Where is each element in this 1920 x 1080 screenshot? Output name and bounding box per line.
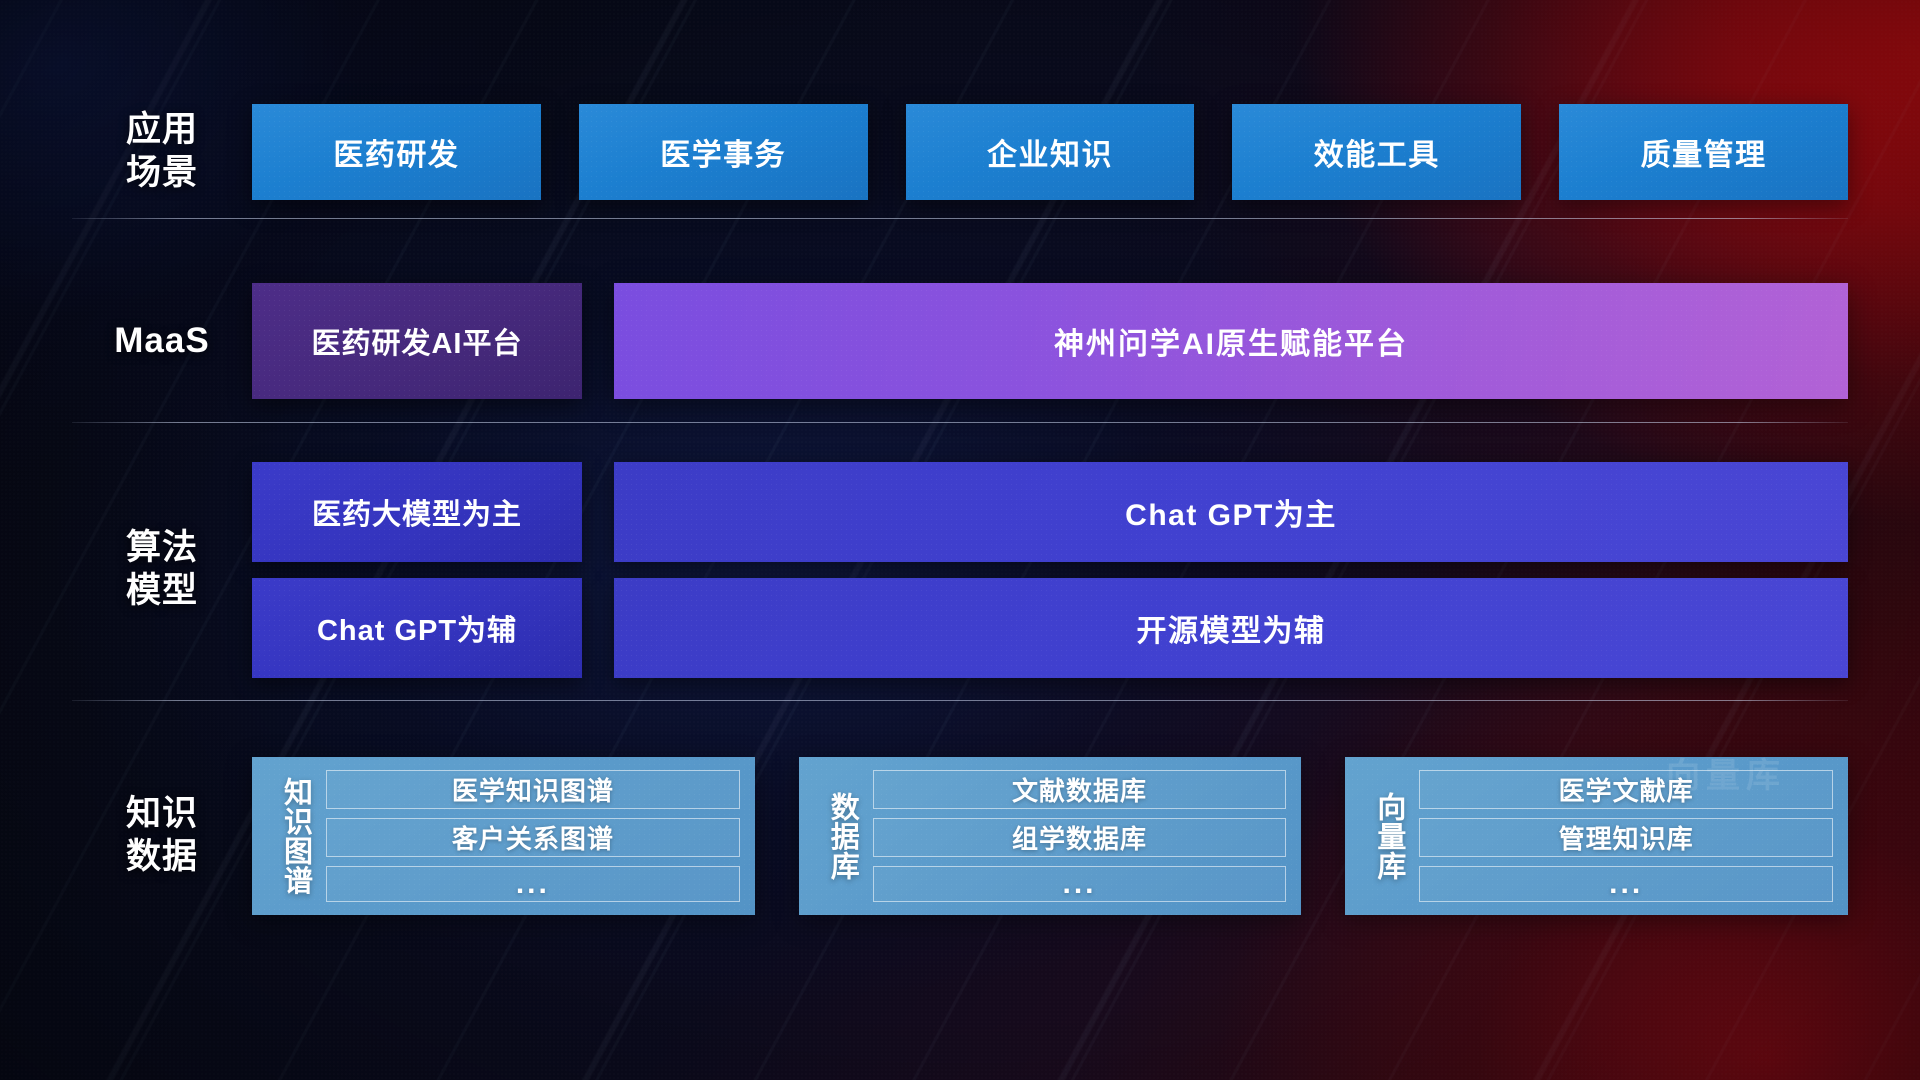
knowledge-group-title: 向量库 [1357,770,1419,902]
knowledge-data-groups: 知识图谱 医学知识图谱 客户关系图谱 ... 数据库 文献数据库 组学数据库 .… [252,757,1848,915]
diagram-content: 应用 场景 医药研发 医学事务 企业知识 效能工具 质量管理 [0,0,1920,1080]
knowledge-group-knowledge-graph[interactable]: 知识图谱 医学知识图谱 客户关系图谱 ... [252,757,755,915]
app-box-efficiency-tools[interactable]: 效能工具 [1232,104,1521,200]
app-box-pharma-rd[interactable]: 医药研发 [252,104,541,200]
row-algorithm-model: 算法 模型 医药大模型为主 Chat GPT为主 Chat GPT为辅 开源模 [72,455,1848,685]
algo-box-pharma-large-model-primary[interactable]: 医药大模型为主 [252,462,582,562]
algo-box-label: Chat GPT为主 [1125,490,1337,534]
knowledge-item-medical-literature-store[interactable]: 医学文献库 [1419,770,1833,809]
algo-box-chatgpt-primary[interactable]: Chat GPT为主 [614,462,1848,562]
diagram-canvas: 应用 场景 医药研发 医学事务 企业知识 效能工具 质量管理 [0,0,1920,1080]
app-box-label: 质量管理 [1641,130,1767,174]
knowledge-group-items: 医学文献库 管理知识库 ... [1419,770,1833,902]
knowledge-group-items: 文献数据库 组学数据库 ... [873,770,1287,902]
algorithm-line-secondary: Chat GPT为辅 开源模型为辅 [252,578,1848,678]
app-box-label: 医学事务 [660,130,786,174]
row-knowledge-data: 知识 数据 知识图谱 医学知识图谱 客户关系图谱 ... 数据库 文献数据库 [72,716,1848,956]
knowledge-group-title: 数据库 [811,770,873,902]
algo-box-opensource-model-secondary[interactable]: 开源模型为辅 [614,578,1848,678]
maas-box-pharma-ai-platform[interactable]: 医药研发AI平台 [252,283,582,399]
knowledge-item-customer-relation-graph[interactable]: 客户关系图谱 [326,818,740,857]
app-box-medical-affairs[interactable]: 医学事务 [579,104,868,200]
knowledge-group-items: 医学知识图谱 客户关系图谱 ... [326,770,740,902]
algo-box-label: 开源模型为辅 [1137,606,1326,650]
knowledge-item-medical-knowledge-graph[interactable]: 医学知识图谱 [326,770,740,809]
app-box-enterprise-knowledge[interactable]: 企业知识 [906,104,1195,200]
algorithm-line-primary: 医药大模型为主 Chat GPT为主 [252,462,1848,562]
knowledge-item-management-knowledge-store[interactable]: 管理知识库 [1419,818,1833,857]
knowledge-item-literature-database[interactable]: 文献数据库 [873,770,1287,809]
maas-box-shenzhou-wenxue-platform[interactable]: 神州问学AI原生赋能平台 [614,283,1848,399]
knowledge-group-title: 知识图谱 [264,770,326,902]
algorithm-model-boxes: 医药大模型为主 Chat GPT为主 Chat GPT为辅 开源模型为辅 [252,462,1848,678]
knowledge-item-more[interactable]: ... [326,866,740,902]
application-scenario-boxes: 医药研发 医学事务 企业知识 效能工具 质量管理 [252,104,1848,200]
app-box-label: 医药研发 [333,130,459,174]
knowledge-item-more[interactable]: ... [1419,866,1833,902]
row-label-algorithm-model: 算法 模型 [72,527,252,612]
algo-box-label: 医药大模型为主 [312,491,522,533]
maas-box-label: 医药研发AI平台 [311,320,522,362]
maas-box-label: 神州问学AI原生赋能平台 [1054,319,1408,363]
maas-boxes: 医药研发AI平台 神州问学AI原生赋能平台 [252,283,1848,399]
row-label-knowledge-data: 知识 数据 [72,793,252,878]
row-maas: MaaS 医药研发AI平台 神州问学AI原生赋能平台 [72,283,1848,399]
algo-box-label: Chat GPT为辅 [317,607,517,649]
app-box-label: 效能工具 [1314,130,1440,174]
algo-box-chatgpt-secondary[interactable]: Chat GPT为辅 [252,578,582,678]
divider-maas-algorithm [72,422,1848,423]
knowledge-item-more[interactable]: ... [873,866,1287,902]
knowledge-group-database[interactable]: 数据库 文献数据库 组学数据库 ... [799,757,1302,915]
divider-algorithm-knowledge [72,700,1848,701]
app-box-label: 企业知识 [987,130,1113,174]
knowledge-group-vector-store[interactable]: 向量库 医学文献库 管理知识库 ... 向量库 [1345,757,1848,915]
app-box-quality-management[interactable]: 质量管理 [1559,104,1848,200]
row-label-maas: MaaS [72,320,252,363]
divider-application-maas [72,218,1848,219]
row-label-application-scenarios: 应用 场景 [72,109,252,194]
knowledge-item-omics-database[interactable]: 组学数据库 [873,818,1287,857]
row-application-scenarios: 应用 场景 医药研发 医学事务 企业知识 效能工具 质量管理 [72,104,1848,200]
